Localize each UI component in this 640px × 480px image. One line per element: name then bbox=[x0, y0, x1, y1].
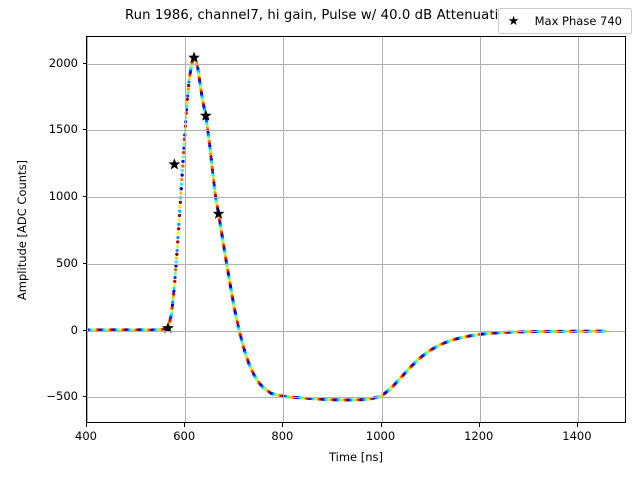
waveform-point bbox=[174, 276, 177, 279]
gridline-vertical bbox=[578, 37, 579, 422]
x-axis-tick-label: 1000 bbox=[366, 429, 395, 443]
legend: ★ Max Phase 740 bbox=[498, 8, 632, 34]
y-axis-tick bbox=[83, 396, 87, 397]
waveform-point bbox=[172, 292, 175, 295]
x-axis-label: Time [ns] bbox=[86, 450, 626, 464]
waveform-point bbox=[170, 309, 173, 312]
y-axis-tick bbox=[83, 196, 87, 197]
waveform-point bbox=[172, 290, 175, 293]
waveform-point bbox=[181, 169, 184, 172]
waveform-point bbox=[174, 268, 177, 271]
waveform-point bbox=[210, 163, 213, 166]
x-axis-tick-label: 800 bbox=[271, 429, 293, 443]
gridline-horizontal bbox=[87, 130, 625, 131]
waveform-point bbox=[175, 257, 178, 260]
max-phase-marker bbox=[168, 158, 180, 169]
waveform-point bbox=[176, 236, 179, 239]
waveform-point bbox=[175, 253, 178, 256]
waveform-point bbox=[178, 214, 181, 217]
x-axis-tick-label: 1400 bbox=[562, 429, 591, 443]
waveform-point bbox=[234, 312, 237, 315]
waveform-point bbox=[176, 240, 179, 243]
figure: Run 1986, channel7, hi gain, Pulse w/ 40… bbox=[0, 0, 640, 480]
waveform-point bbox=[209, 155, 212, 158]
waveform-point bbox=[186, 98, 189, 101]
waveform-point bbox=[210, 158, 213, 161]
waveform-point bbox=[186, 94, 189, 97]
gridline-horizontal bbox=[87, 264, 625, 265]
waveform-point bbox=[180, 183, 183, 186]
waveform-point bbox=[181, 160, 184, 163]
waveform-point bbox=[186, 91, 189, 94]
waveform-point bbox=[171, 301, 174, 304]
waveform-point bbox=[174, 272, 177, 275]
waveform-point bbox=[177, 223, 180, 226]
x-axis-tick-label: 600 bbox=[173, 429, 195, 443]
waveform-point bbox=[171, 298, 174, 301]
gridline-vertical bbox=[382, 37, 383, 422]
waveform-point bbox=[176, 245, 179, 248]
x-axis-tick bbox=[184, 423, 185, 427]
waveform-trace bbox=[87, 37, 626, 423]
y-axis-tick bbox=[83, 263, 87, 264]
gridline-vertical bbox=[185, 37, 186, 422]
y-axis-tick-label: 500 bbox=[56, 256, 78, 270]
gridline-horizontal bbox=[87, 397, 625, 398]
waveform-point bbox=[209, 152, 212, 155]
waveform-point bbox=[210, 160, 213, 163]
x-axis-tick bbox=[86, 423, 87, 427]
waveform-point bbox=[179, 205, 182, 208]
plot-area bbox=[86, 36, 626, 423]
x-axis-tick bbox=[577, 423, 578, 427]
waveform-point bbox=[172, 295, 175, 298]
gridline-vertical bbox=[87, 37, 88, 422]
y-axis-tick-label: 0 bbox=[71, 323, 78, 337]
x-axis-tick bbox=[381, 423, 382, 427]
y-axis-tick bbox=[83, 63, 87, 64]
x-axis-tick bbox=[282, 423, 283, 427]
y-axis-label-text: Amplitude [ADC Counts] bbox=[15, 159, 29, 299]
y-axis-label: Amplitude [ADC Counts] bbox=[14, 36, 30, 423]
waveform-point bbox=[179, 192, 182, 195]
waveform-point bbox=[173, 284, 176, 287]
y-axis-tick-label: 1500 bbox=[49, 122, 78, 136]
waveform-point bbox=[179, 201, 182, 204]
x-axis-tick-label: 400 bbox=[75, 429, 97, 443]
x-axis-tick bbox=[479, 423, 480, 427]
waveform-point bbox=[170, 312, 173, 315]
y-axis-tick-label: −500 bbox=[46, 389, 78, 403]
waveform-point bbox=[171, 304, 174, 307]
waveform-point bbox=[176, 249, 179, 252]
waveform-point bbox=[209, 150, 212, 153]
waveform-point bbox=[180, 187, 183, 190]
waveform-point bbox=[173, 287, 176, 290]
waveform-point bbox=[177, 227, 180, 230]
gridline-horizontal bbox=[87, 331, 625, 332]
gridline-vertical bbox=[480, 37, 481, 422]
waveform-point bbox=[173, 280, 176, 283]
y-axis-tick bbox=[83, 330, 87, 331]
waveform-point bbox=[187, 87, 190, 90]
waveform-point bbox=[187, 80, 190, 83]
waveform-point bbox=[180, 178, 183, 181]
waveform-point bbox=[209, 147, 212, 150]
waveform-point bbox=[211, 166, 214, 169]
waveform-point bbox=[181, 174, 184, 177]
gridline-horizontal bbox=[87, 197, 625, 198]
waveform-point bbox=[236, 321, 239, 324]
gridline-vertical bbox=[283, 37, 284, 422]
gridline-horizontal bbox=[87, 64, 625, 65]
y-axis-tick-label: 1000 bbox=[49, 189, 78, 203]
waveform-point bbox=[178, 218, 181, 221]
y-axis-tick bbox=[83, 129, 87, 130]
waveform-point bbox=[171, 306, 174, 309]
x-axis-tick-label: 1200 bbox=[464, 429, 493, 443]
waveform-point bbox=[211, 168, 214, 171]
waveform-point bbox=[178, 210, 181, 213]
waveform-point bbox=[177, 232, 180, 235]
waveform-point bbox=[181, 164, 184, 167]
legend-label-max-phase: Max Phase 740 bbox=[535, 14, 622, 28]
waveform-point bbox=[208, 144, 211, 147]
waveform-point bbox=[187, 84, 190, 87]
star-icon: ★ bbox=[506, 15, 522, 28]
y-axis-tick-label: 2000 bbox=[49, 56, 78, 70]
